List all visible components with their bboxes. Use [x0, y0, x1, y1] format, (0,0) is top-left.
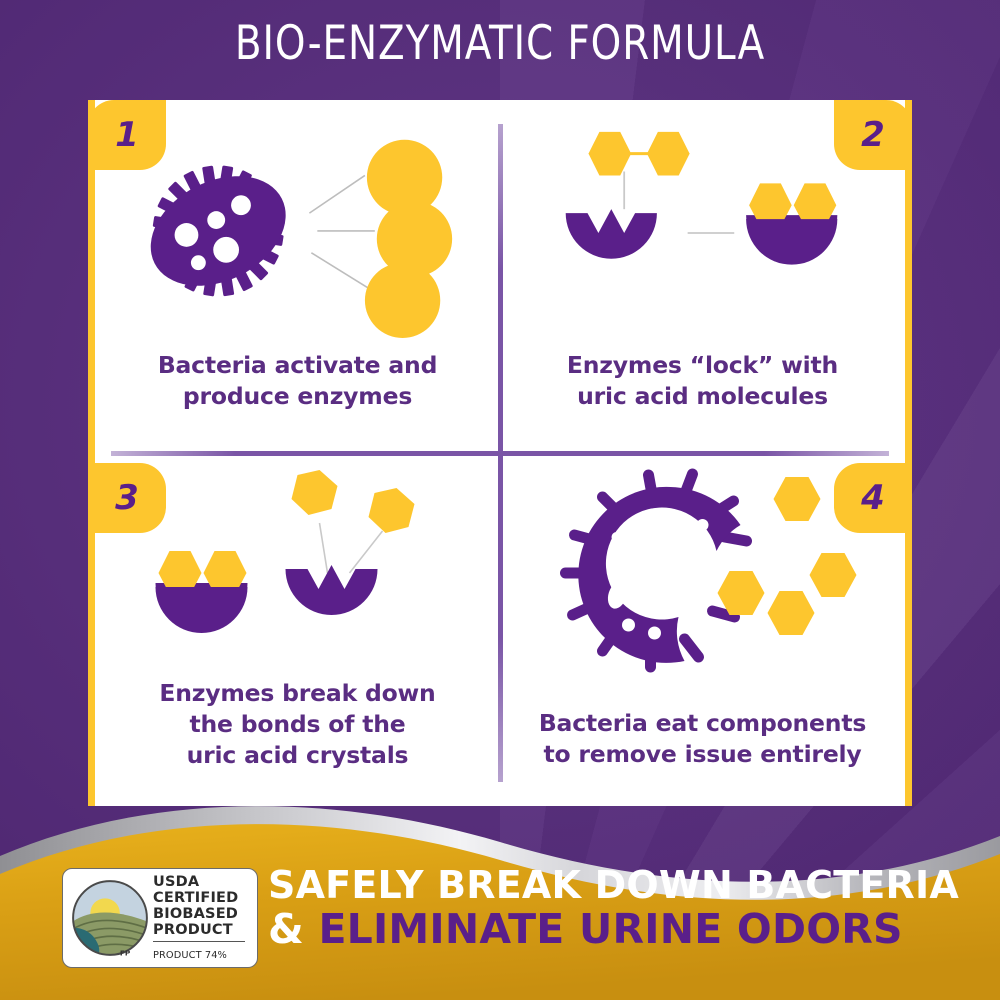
step-caption-4-line2: to remove issue entirely — [512, 739, 893, 770]
step-panel-2: 2 — [500, 100, 905, 453]
usda-line-4: PRODUCT — [153, 923, 245, 938]
usda-field-sun-logo: FP — [69, 877, 151, 959]
step-number-badge-2: 2 — [834, 100, 912, 170]
step-caption-3-line2: the bonds of the — [107, 709, 488, 740]
steps-card: 1 — [88, 100, 912, 806]
usda-line-3: BIOBASED — [153, 907, 245, 922]
tagline-ampersand: & — [268, 905, 318, 953]
step-number-badge-4: 4 — [834, 463, 912, 533]
tagline-line-2-text: ELIMINATE URINE ODORS — [318, 905, 902, 953]
usda-line-1: USDA — [153, 875, 245, 890]
step-caption-1: Bacteria activate and produce enzymes — [107, 350, 488, 412]
step-caption-2-line2: uric acid molecules — [512, 381, 893, 412]
tagline-line-2: & ELIMINATE URINE ODORS — [268, 907, 990, 953]
step-caption-2-line1: Enzymes “lock” with — [512, 350, 893, 381]
step-panel-1: 1 — [95, 100, 500, 453]
step-caption-4-line1: Bacteria eat components — [512, 708, 893, 739]
step-panel-3: 3 — [95, 453, 500, 806]
usda-biobased-badge: FP USDA CERTIFIED BIOBASED PRODUCT PRODU… — [62, 868, 258, 968]
step-number-badge-3: 3 — [88, 463, 166, 533]
tagline-block: SAFELY BREAK DOWN BACTERIA & ELIMINATE U… — [268, 864, 990, 952]
step-caption-3-line3: uric acid crystals — [107, 740, 488, 771]
usda-line-2: CERTIFIED — [153, 891, 245, 906]
tagline-line-1: SAFELY BREAK DOWN BACTERIA — [268, 864, 990, 907]
step-caption-1-line2: produce enzymes — [107, 381, 488, 412]
step-number-badge-1: 1 — [88, 100, 166, 170]
usda-badge-text: USDA CERTIFIED BIOBASED PRODUCT PRODUCT … — [153, 875, 245, 961]
step-caption-1-line1: Bacteria activate and — [107, 350, 488, 381]
usda-subtext: PRODUCT 74% — [153, 950, 227, 961]
page-title: BIO-ENZYMATIC FORMULA — [40, 16, 960, 71]
infographic-canvas: BIO-ENZYMATIC FORMULA 1 — [0, 0, 1000, 1000]
usda-fp-mark: FP — [120, 949, 131, 958]
steps-grid: 1 — [95, 100, 905, 806]
usda-divider-rule — [153, 941, 245, 942]
step-caption-2: Enzymes “lock” with uric acid molecules — [512, 350, 893, 412]
step-caption-3-line1: Enzymes break down — [107, 678, 488, 709]
bottom-banner: FP USDA CERTIFIED BIOBASED PRODUCT PRODU… — [0, 852, 1000, 1000]
step-caption-4: Bacteria eat components to remove issue … — [512, 708, 893, 770]
step-panel-4: 4 — [500, 453, 905, 806]
step-caption-3: Enzymes break down the bonds of the uric… — [107, 678, 488, 771]
